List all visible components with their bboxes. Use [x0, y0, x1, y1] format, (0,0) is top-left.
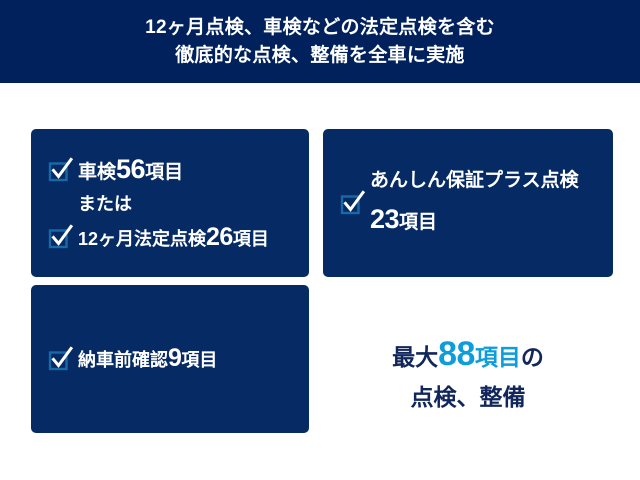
- summary-total-number: 88: [438, 335, 475, 373]
- header-title-line-2: 徹底的な点検、整備を全車に実施: [175, 42, 465, 70]
- list-item-text: 納車前確認9項目: [78, 343, 217, 374]
- list-item-suffix: 項目: [399, 212, 437, 233]
- checkbox-checked-icon: [49, 228, 68, 247]
- list-item: 車検56項目: [31, 153, 309, 187]
- list-item-prefix: 納車前確認: [78, 350, 168, 370]
- list-item-suffix: 項目: [233, 229, 269, 249]
- card-inspection: 車検56項目 または 12ヶ月法定点検26項目: [31, 129, 309, 277]
- list-item-number: 23: [370, 204, 399, 234]
- header-banner: 12ヶ月点検、車検などの法定点検を含む 徹底的な点検、整備を全車に実施: [0, 0, 640, 83]
- list-item-or-text: または: [78, 193, 132, 216]
- list-item-suffix: 項目: [181, 350, 217, 370]
- summary-lead: 最大: [392, 344, 438, 370]
- checkbox-checked-icon: [49, 350, 68, 369]
- card-warranty-text-stack: あんしん保証プラス点検 23項目: [370, 164, 579, 242]
- list-item-text: 12ヶ月法定点検26項目: [78, 222, 269, 253]
- summary-block: 最大88項目の 点検、整備: [323, 320, 613, 430]
- summary-particle: の: [521, 344, 544, 370]
- card-predelivery: 納車前確認9項目: [31, 285, 309, 433]
- list-item-prefix: 12ヶ月法定点検: [78, 229, 206, 249]
- card-warranty-body: あんしん保証プラス点検 23項目: [323, 129, 613, 277]
- list-item-number: 56: [116, 154, 145, 184]
- card-inspection-body: 車検56項目 または 12ヶ月法定点検26項目: [31, 129, 309, 277]
- checkbox-checked-icon: [341, 194, 360, 213]
- card-warranty: あんしん保証プラス点検 23項目: [323, 129, 613, 277]
- summary-line-2: 点検、整備: [411, 377, 526, 417]
- promo-panel: 12ヶ月点検、車検などの法定点検を含む 徹底的な点検、整備を全車に実施 車検56…: [0, 0, 640, 480]
- list-item-number: 26: [206, 223, 233, 251]
- list-item: 納車前確認9項目: [31, 343, 309, 374]
- card-predelivery-body: 納車前確認9項目: [31, 285, 309, 433]
- list-item-or: または: [31, 193, 309, 216]
- checkbox-checked-icon: [49, 161, 68, 180]
- list-item: 12ヶ月法定点検26項目: [31, 222, 309, 253]
- list-item-number: 9: [168, 344, 181, 372]
- summary-line-1: 最大88項目の: [392, 334, 544, 377]
- summary-unit: 項目: [475, 344, 521, 370]
- list-item-text: 車検56項目: [78, 153, 183, 187]
- list-item-title: あんしん保証プラス点検: [370, 169, 579, 193]
- list-item-suffix: 項目: [145, 162, 183, 183]
- list-item-prefix: 車検: [78, 162, 116, 183]
- header-title-line-1: 12ヶ月点検、車検などの法定点検を含む: [145, 14, 495, 42]
- list-item-count: 23項目: [370, 203, 579, 237]
